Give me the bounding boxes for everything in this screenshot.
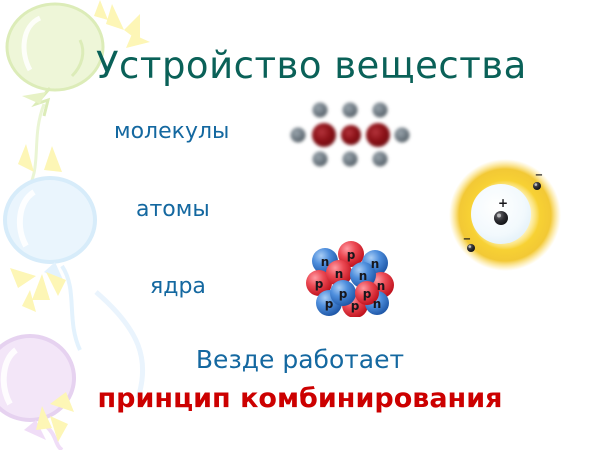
nucleon-label: n: [373, 297, 382, 311]
electron-charge-symbol-1: −: [535, 170, 543, 181]
slide-canvas: Устройство вещества молекулы атомы ядра: [0, 0, 600, 450]
nucleus-diagram: .nl { font-family: "DejaVu Sans", sans-s…: [303, 237, 397, 317]
conclusion-line-1: Везде работает: [0, 345, 600, 374]
nucleon-label: n: [371, 257, 380, 271]
electron-charge-symbol-2: −: [463, 234, 471, 245]
balloon-string-green: [24, 104, 44, 196]
nucleon-label: n: [377, 279, 386, 293]
balloon-green-icon: [7, 4, 103, 116]
nucleon-label: p: [315, 277, 324, 291]
label-atoms: атомы: [136, 197, 210, 222]
starburst-rays-top: [94, 0, 150, 48]
nucleon-label: p: [363, 287, 372, 301]
nucleon-label: n: [335, 267, 344, 281]
nucleon-label: p: [347, 248, 356, 262]
label-molecules: молекулы: [114, 119, 229, 144]
nucleon-label: n: [359, 269, 368, 283]
page-title: Устройство вещества: [96, 44, 527, 87]
nucleus-charge-symbol: +: [498, 196, 508, 210]
nucleon-label: p: [351, 299, 360, 313]
nucleon-label: p: [325, 297, 334, 311]
nucleon-label: n: [321, 255, 330, 269]
starburst-rays-middle: [10, 144, 66, 300]
molecule-lattice-diagram: [288, 98, 412, 170]
nucleon-label: p: [339, 287, 348, 301]
conclusion-line-2: принцип комбинирования: [0, 383, 600, 414]
balloon-blue-icon: [5, 178, 95, 350]
atom-diagram: + − −: [446, 156, 564, 274]
label-nuclei: ядра: [150, 274, 206, 299]
